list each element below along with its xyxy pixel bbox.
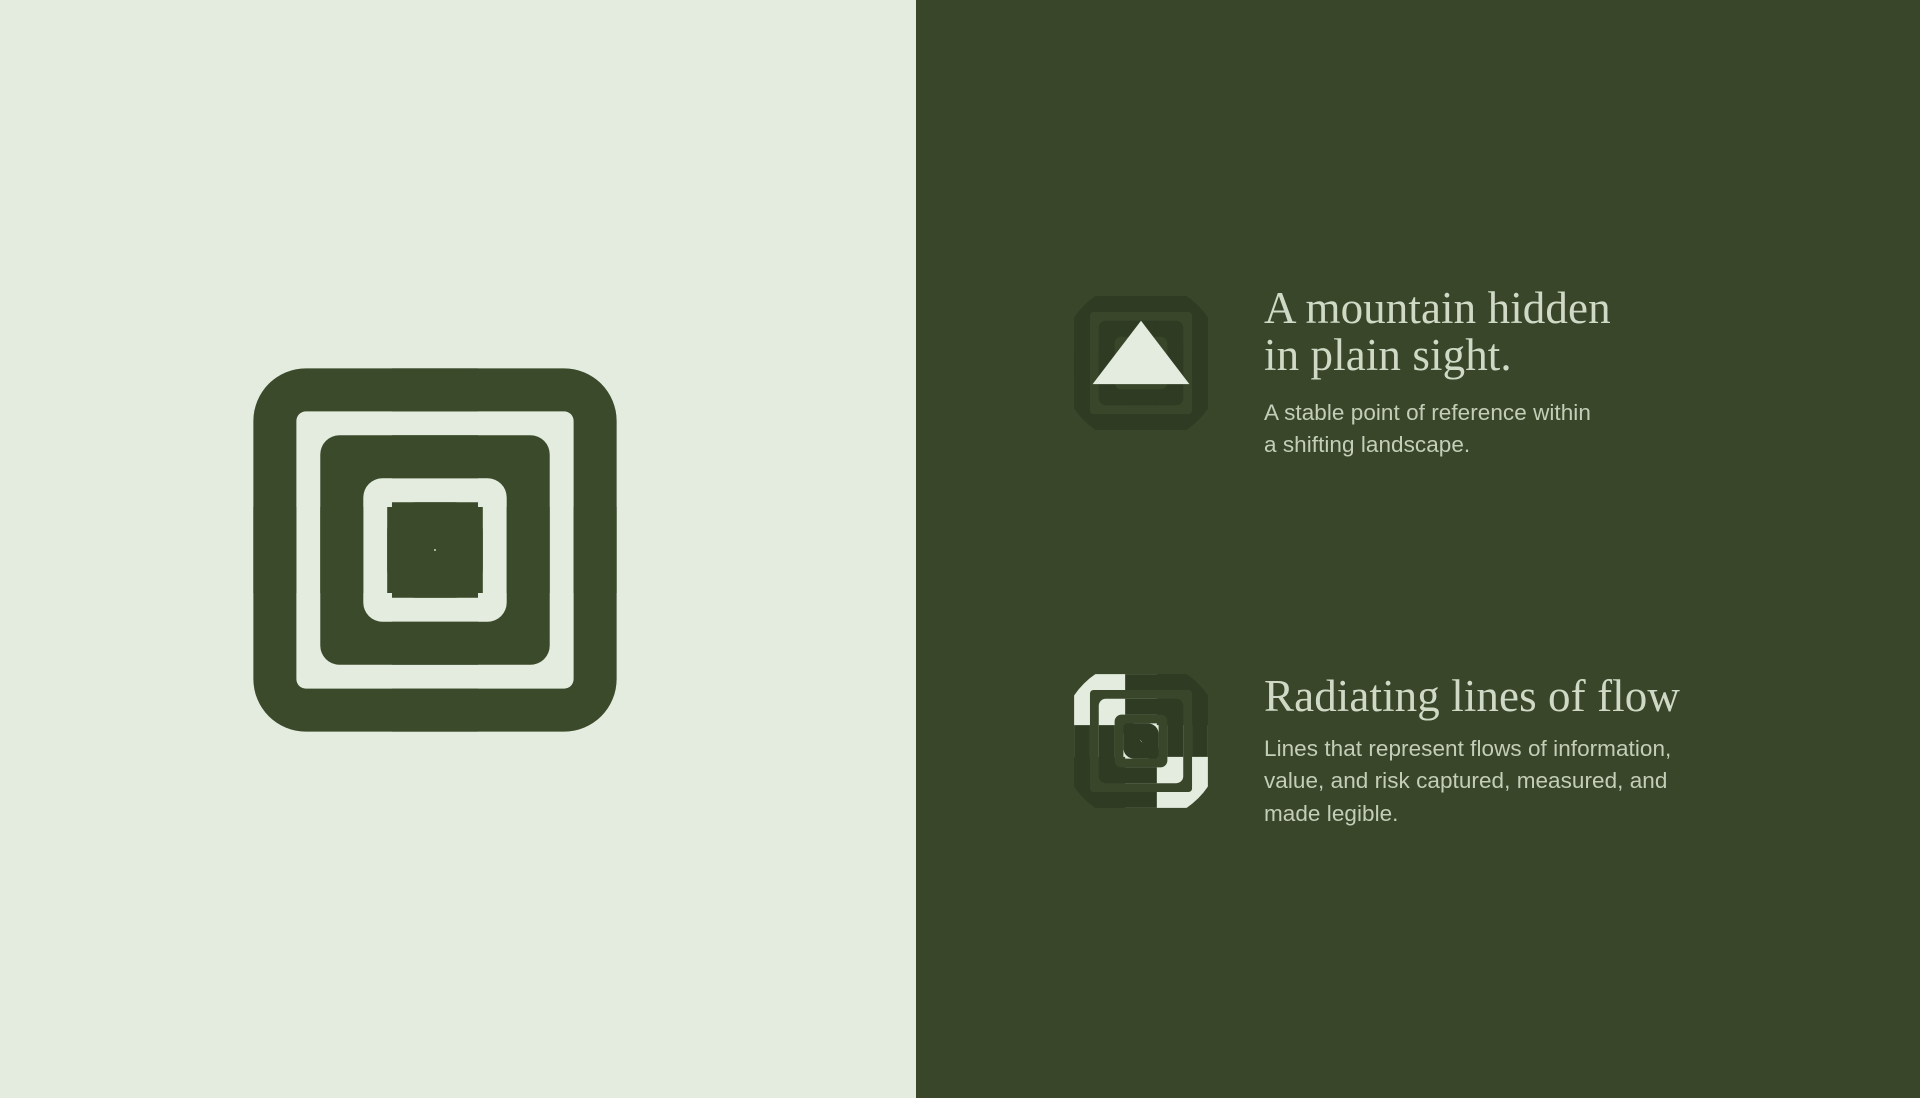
feature-title: A mountain hidden in plain sight. xyxy=(1264,285,1611,379)
feature-text-block: Radiating lines of flow Lines that repre… xyxy=(1264,665,1680,831)
flow-lines-in-mark-icon-glyph xyxy=(1053,653,1229,829)
feature-item-mountain: A mountain hidden in plain sight. A stab… xyxy=(1053,285,1611,462)
features-panel: A mountain hidden in plain sight. A stab… xyxy=(916,0,1920,1098)
flow-lines-in-mark-icon xyxy=(1053,653,1229,829)
hero-mark-body xyxy=(253,368,616,731)
feature-body: A stable point of reference within a shi… xyxy=(1264,397,1611,462)
feature-text-block: A mountain hidden in plain sight. A stab… xyxy=(1264,285,1611,462)
feature-item-flow: Radiating lines of flow Lines that repre… xyxy=(1053,665,1680,831)
hero-panel xyxy=(0,0,916,1098)
brand-mark-slide: A mountain hidden in plain sight. A stab… xyxy=(0,0,1920,1098)
hero-logo-mark xyxy=(196,311,674,789)
feature-title: Radiating lines of flow xyxy=(1264,673,1680,720)
feature-body: Lines that represent flows of informatio… xyxy=(1264,733,1680,831)
mountain-in-mark-icon-glyph xyxy=(1053,275,1229,451)
mountain-in-mark-icon xyxy=(1053,275,1229,451)
